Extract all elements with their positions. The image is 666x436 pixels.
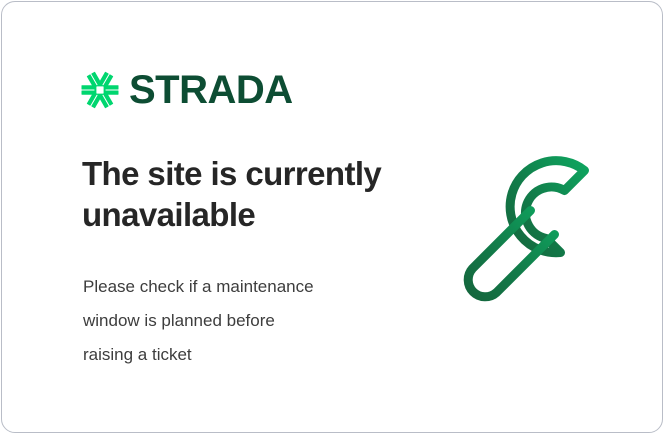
- wrench-icon: [454, 152, 618, 312]
- status-card: STRADA The site is currently unavailable…: [1, 1, 663, 433]
- page-title: The site is currently unavailable: [82, 154, 412, 236]
- page-description: Please check if a maintenance window is …: [83, 270, 393, 372]
- description-line: window is planned before: [83, 304, 393, 338]
- description-line: raising a ticket: [83, 338, 393, 372]
- strada-asterisk-icon: [80, 70, 120, 110]
- brand-lockup: STRADA: [80, 70, 293, 110]
- description-line: Please check if a maintenance: [83, 270, 393, 304]
- brand-wordmark: STRADA: [129, 70, 293, 110]
